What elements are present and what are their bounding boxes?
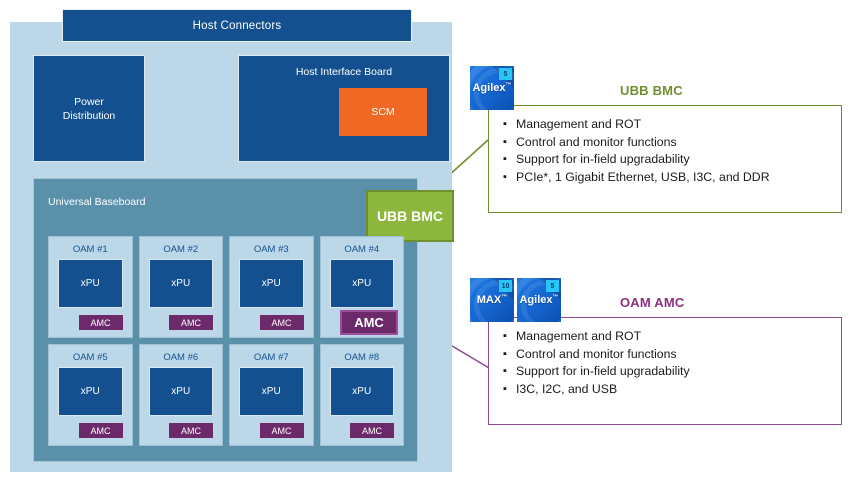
callout-oam-amc: OAM AMC 10 MAX™ 5 Agilex™ Management and…: [470, 278, 842, 430]
amc-block[interactable]: AMC: [169, 423, 213, 438]
chip-name-agilex: Agilex™: [517, 294, 561, 306]
oam-tile[interactable]: OAM #8xPUAMC: [320, 344, 405, 446]
host-connectors-label: Host Connectors: [193, 20, 282, 32]
amc-block[interactable]: AMC: [260, 423, 304, 438]
ubb-bmc-block[interactable]: UBB BMC: [366, 190, 454, 242]
oam-label: OAM #3: [230, 244, 313, 255]
oam-label: OAM #5: [49, 352, 132, 363]
amc-block[interactable]: AMC: [79, 423, 123, 438]
oam-label: OAM #2: [140, 244, 223, 255]
oam-tile[interactable]: OAM #1xPUAMC: [48, 236, 133, 338]
universal-baseboard-label: Universal Baseboard: [48, 196, 145, 208]
xpu-block: xPU: [58, 367, 123, 416]
list-item: Management and ROT: [516, 328, 690, 346]
oam-label: OAM #4: [321, 244, 404, 255]
host-connectors-block: Host Connectors: [62, 9, 412, 42]
oam-grid: OAM #1xPUAMCOAM #2xPUAMCOAM #3xPUAMCOAM …: [48, 236, 404, 446]
callout-oam-amc-title: OAM AMC: [620, 295, 684, 310]
xpu-block: xPU: [330, 259, 395, 308]
xpu-block: xPU: [58, 259, 123, 308]
oam-tile[interactable]: OAM #5xPUAMC: [48, 344, 133, 446]
oam-tile[interactable]: OAM #6xPUAMC: [139, 344, 224, 446]
xpu-block: xPU: [330, 367, 395, 416]
oam-label: OAM #7: [230, 352, 313, 363]
power-distribution-block: Power Distribution: [33, 55, 145, 162]
list-item: I3C, I2C, and USB: [516, 381, 690, 399]
amc-block[interactable]: AMC: [169, 315, 213, 330]
ubb-bmc-label: UBB BMC: [377, 208, 443, 224]
power-distribution-label: Power Distribution: [63, 95, 116, 123]
xpu-block: xPU: [149, 367, 214, 416]
list-item: Control and monitor functions: [516, 134, 770, 152]
host-interface-board-label: Host Interface Board: [239, 66, 449, 78]
host-interface-board-block: Host Interface Board SCM: [238, 55, 450, 162]
universal-baseboard-block: Universal Baseboard UBB BMC OAM #1xPUAMC…: [33, 178, 418, 462]
oam-tile[interactable]: OAM #7xPUAMC: [229, 344, 314, 446]
list-item: Support for in-field upgradability: [516, 363, 690, 381]
oam-tile[interactable]: OAM #4xPUAMC: [320, 236, 405, 338]
callout-oam-amc-bullet-list: Management and ROT Control and monitor f…: [494, 317, 690, 398]
xpu-block: xPU: [149, 259, 214, 308]
chip-agilex: 5 Agilex™: [517, 278, 561, 322]
amc-block-highlighted[interactable]: AMC: [340, 310, 398, 335]
amc-block[interactable]: AMC: [79, 315, 123, 330]
callout-ubb-bmc-bullet-list: Management and ROT Control and monitor f…: [494, 105, 770, 186]
oam-label: OAM #8: [321, 352, 404, 363]
chip-badge-agilex: 5: [499, 68, 512, 80]
callout-ubb-bmc-title: UBB BMC: [620, 83, 683, 98]
chip-badge-agilex: 5: [546, 280, 559, 292]
oam-tile[interactable]: OAM #3xPUAMC: [229, 236, 314, 338]
list-item: Support for in-field upgradability: [516, 151, 770, 169]
oam-label: OAM #1: [49, 244, 132, 255]
list-item: PCIe*, 1 Gigabit Ethernet, USB, I3C, and…: [516, 169, 770, 187]
chip-agilex: 5 Agilex™: [470, 66, 514, 110]
list-item: Control and monitor functions: [516, 346, 690, 364]
amc-block[interactable]: AMC: [350, 423, 394, 438]
list-item: Management and ROT: [516, 116, 770, 134]
amc-block[interactable]: AMC: [260, 315, 304, 330]
oam-tile[interactable]: OAM #2xPUAMC: [139, 236, 224, 338]
oam-label: OAM #6: [140, 352, 223, 363]
callout-ubb-bmc: UBB BMC 5 Agilex™ Management and ROT Con…: [470, 66, 842, 218]
diagram-canvas: Host Connectors Power Distribution Host …: [0, 0, 850, 492]
chip-badge-max: 10: [499, 280, 512, 292]
scm-block: SCM: [339, 88, 427, 136]
chip-name-max: MAX™: [470, 294, 514, 306]
chip-name-agilex: Agilex™: [470, 82, 514, 94]
xpu-block: xPU: [239, 259, 304, 308]
chip-max: 10 MAX™: [470, 278, 514, 322]
scm-label: SCM: [371, 106, 394, 118]
xpu-block: xPU: [239, 367, 304, 416]
